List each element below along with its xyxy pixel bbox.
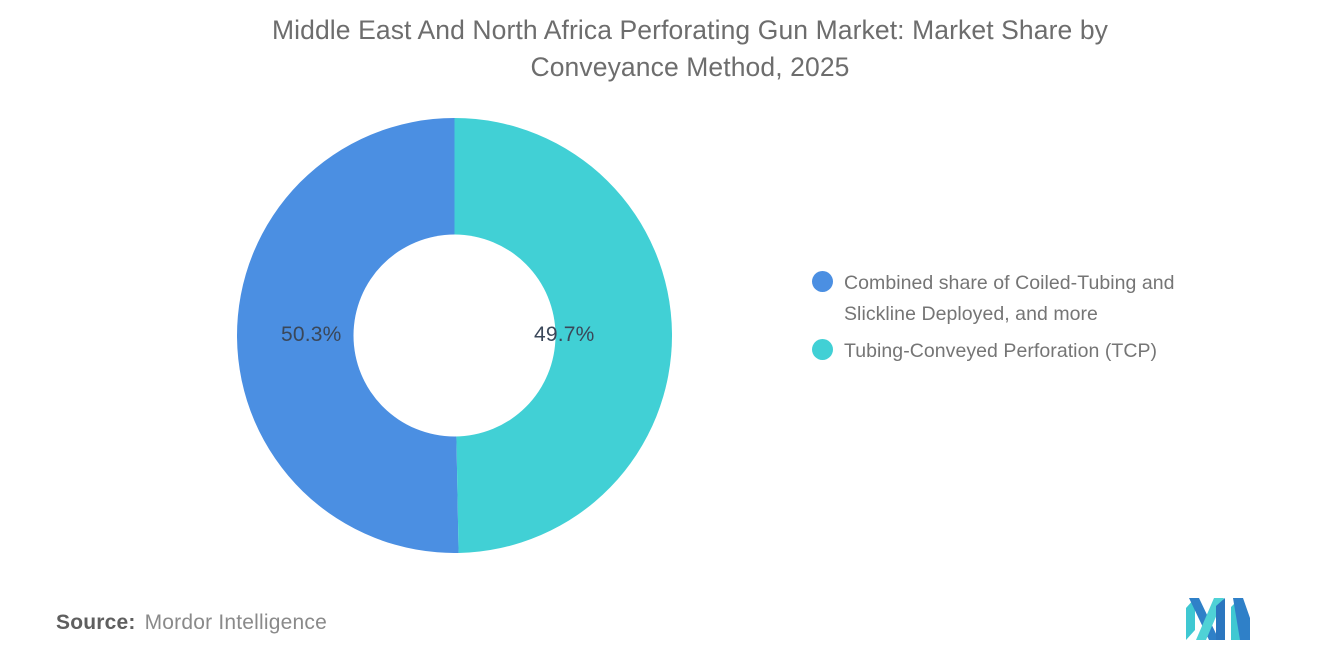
source-label: Source: — [56, 611, 136, 635]
legend-item-tcp[interactable]: Tubing-Conveyed Perforation (TCP) — [812, 336, 1282, 367]
legend-label-tcp: Tubing-Conveyed Perforation (TCP) — [844, 336, 1157, 367]
logo-svg — [1186, 598, 1250, 640]
donut-slice-label-1: 49.7% — [534, 323, 595, 347]
legend-item-combined-share[interactable]: Combined share of Coiled-Tubing and Slic… — [812, 268, 1282, 330]
chart-card: Middle East And North Africa Perforating… — [0, 0, 1320, 665]
donut-chart: 50.3% 49.7% — [237, 118, 672, 553]
chart-title: Middle East And North Africa Perforating… — [170, 12, 1210, 86]
donut-hole — [354, 235, 556, 437]
legend-swatch-teal-icon — [812, 339, 833, 360]
mordor-intelligence-logo-icon — [1186, 598, 1250, 640]
source-value: Mordor Intelligence — [145, 611, 327, 635]
donut-slice-label-0: 50.3% — [281, 323, 342, 347]
source-row: Source: Mordor Intelligence — [56, 611, 327, 635]
legend-label-combined-share: Combined share of Coiled-Tubing and Slic… — [844, 268, 1244, 330]
chart-legend: Combined share of Coiled-Tubing and Slic… — [812, 268, 1282, 373]
legend-swatch-blue-icon — [812, 271, 833, 292]
